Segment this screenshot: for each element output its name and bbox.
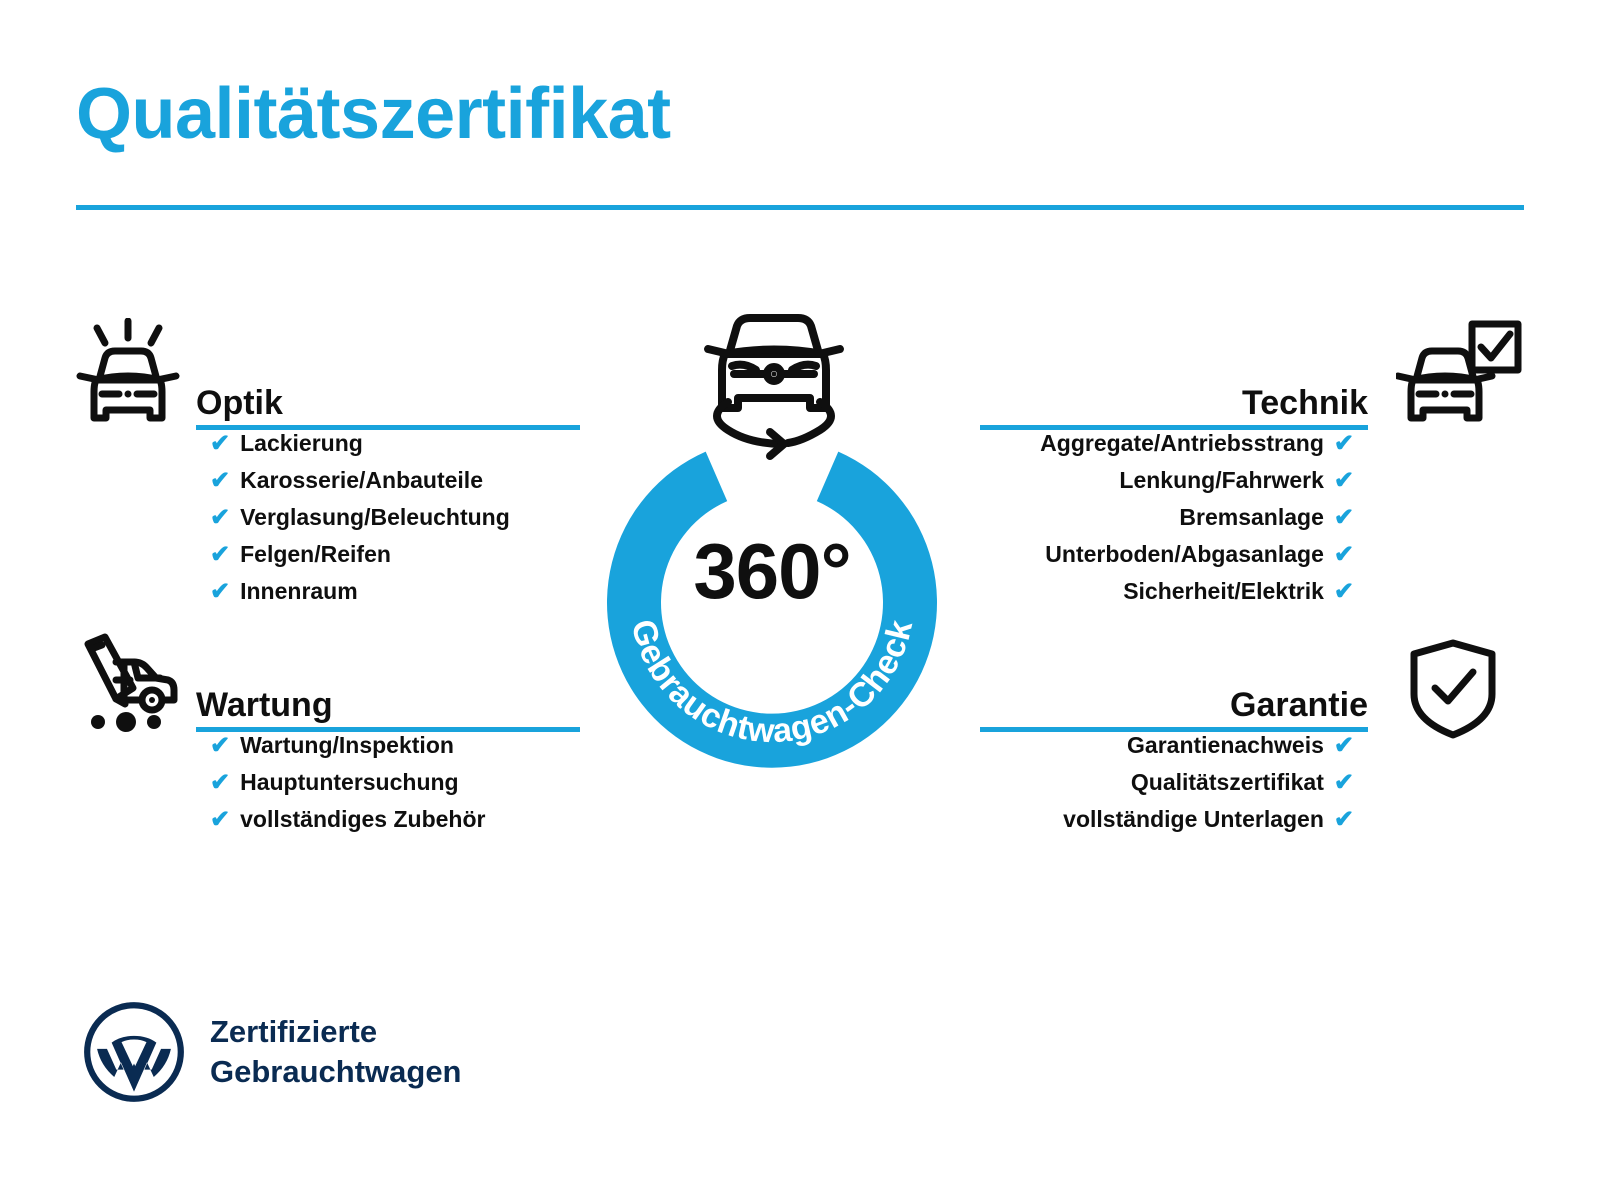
360-gebrauchtwagen-check-badge: Gebrauchtwagen-Check xyxy=(572,300,1012,800)
list-item: Garantienachweis✔ xyxy=(980,732,1354,769)
section-header: Optik xyxy=(196,368,580,430)
list-item-label: Wartung/Inspektion xyxy=(240,732,454,759)
check-icon: ✔ xyxy=(210,506,230,530)
badge-center-value: 360° xyxy=(572,532,972,610)
check-icon: ✔ xyxy=(210,432,230,456)
section-header: Garantie xyxy=(980,670,1368,732)
section-divider xyxy=(980,425,1368,430)
list-item: Aggregate/Antriebsstrang✔ xyxy=(980,430,1354,467)
section-optik: Optik ✔Lackierung ✔Karosserie/Anbauteile… xyxy=(196,368,580,615)
check-icon: ✔ xyxy=(210,580,230,604)
list-item-label: Sicherheit/Elektrik xyxy=(1123,578,1324,605)
list-item-label: Unterboden/Abgasanlage xyxy=(1045,541,1324,568)
section-divider xyxy=(196,727,580,732)
check-icon: ✔ xyxy=(210,543,230,567)
list-item: Sicherheit/Elektrik✔ xyxy=(980,578,1354,615)
list-item-label: Hauptuntersuchung xyxy=(240,769,459,796)
certificate-page: Qualitätszertifikat xyxy=(0,0,1600,1200)
checklist-wartung: ✔Wartung/Inspektion ✔Hauptuntersuchung ✔… xyxy=(210,732,580,843)
list-item: Unterboden/Abgasanlage✔ xyxy=(980,541,1354,578)
section-title-wartung: Wartung xyxy=(196,688,333,722)
list-item-label: Qualitätszertifikat xyxy=(1131,769,1324,796)
section-technik: Technik Aggregate/Antriebsstrang✔ Lenkun… xyxy=(980,368,1368,615)
section-title-technik: Technik xyxy=(1242,386,1368,420)
check-icon: ✔ xyxy=(210,808,230,832)
list-item-label: vollständige Unterlagen xyxy=(1063,806,1324,833)
list-item: ✔Karosserie/Anbauteile xyxy=(210,467,580,504)
list-item-label: vollständiges Zubehör xyxy=(240,806,485,833)
check-icon: ✔ xyxy=(210,771,230,795)
check-icon: ✔ xyxy=(210,469,230,493)
check-icon: ✔ xyxy=(1334,580,1354,604)
check-icon: ✔ xyxy=(1334,432,1354,456)
footer-line-2: Gebrauchtwagen xyxy=(210,1052,462,1092)
page-title: Qualitätszertifikat xyxy=(76,78,671,150)
list-item-label: Garantienachweis xyxy=(1127,732,1324,759)
list-item-label: Lenkung/Fahrwerk xyxy=(1119,467,1323,494)
check-icon: ✔ xyxy=(210,734,230,758)
list-item: Lenkung/Fahrwerk✔ xyxy=(980,467,1354,504)
list-item-label: Aggregate/Antriebsstrang xyxy=(1040,430,1324,457)
list-item: ✔vollständiges Zubehör xyxy=(210,806,580,843)
volkswagen-logo-icon xyxy=(82,1000,186,1104)
section-wartung: Wartung ✔Wartung/Inspektion ✔Hauptunters… xyxy=(196,670,580,843)
list-item-label: Bremsanlage xyxy=(1179,504,1323,531)
list-item-label: Karosserie/Anbauteile xyxy=(240,467,483,494)
check-icon: ✔ xyxy=(1334,506,1354,530)
list-item: ✔Verglasung/Beleuchtung xyxy=(210,504,580,541)
check-icon: ✔ xyxy=(1334,734,1354,758)
checklist-technik: Aggregate/Antriebsstrang✔ Lenkung/Fahrwe… xyxy=(980,430,1354,615)
list-item: ✔Innenraum xyxy=(210,578,580,615)
section-header: Wartung xyxy=(196,670,580,732)
car-front-checkbox-icon xyxy=(1396,318,1522,433)
list-item: Bremsanlage✔ xyxy=(980,504,1354,541)
list-item-label: Felgen/Reifen xyxy=(240,541,391,568)
list-item: Qualitätszertifikat✔ xyxy=(980,769,1354,806)
list-item-label: Innenraum xyxy=(240,578,358,605)
check-icon: ✔ xyxy=(1334,771,1354,795)
list-item-label: Lackierung xyxy=(240,430,363,457)
list-item: ✔Wartung/Inspektion xyxy=(210,732,580,769)
car-front-sparkle-icon xyxy=(72,318,184,433)
list-item: ✔Hauptuntersuchung xyxy=(210,769,580,806)
list-item: ✔Lackierung xyxy=(210,430,580,467)
list-item: ✔Felgen/Reifen xyxy=(210,541,580,578)
section-divider xyxy=(196,425,580,430)
footer-line-1: Zertifizierte xyxy=(210,1012,462,1052)
check-icon: ✔ xyxy=(1334,469,1354,493)
footer-brand-text: Zertifizierte Gebrauchtwagen xyxy=(210,1012,462,1091)
check-icon: ✔ xyxy=(1334,808,1354,832)
list-item-label: Verglasung/Beleuchtung xyxy=(240,504,510,531)
check-icon: ✔ xyxy=(1334,543,1354,567)
section-title-optik: Optik xyxy=(196,386,283,420)
pencil-car-checklist-icon xyxy=(72,632,184,737)
footer-logo: Zertifizierte Gebrauchtwagen xyxy=(82,1000,462,1104)
list-item: vollständige Unterlagen✔ xyxy=(980,806,1354,843)
checklist-optik: ✔Lackierung ✔Karosserie/Anbauteile ✔Verg… xyxy=(210,430,580,615)
checklist-garantie: Garantienachweis✔ Qualitätszertifikat✔ v… xyxy=(980,732,1354,843)
title-divider xyxy=(76,205,1524,210)
shield-check-icon xyxy=(1406,638,1500,745)
section-garantie: Garantie Garantienachweis✔ Qualitätszert… xyxy=(980,670,1368,843)
car-front-rotate-icon xyxy=(684,304,864,464)
section-divider xyxy=(980,727,1368,732)
section-header: Technik xyxy=(980,368,1368,430)
section-title-garantie: Garantie xyxy=(1230,688,1368,722)
